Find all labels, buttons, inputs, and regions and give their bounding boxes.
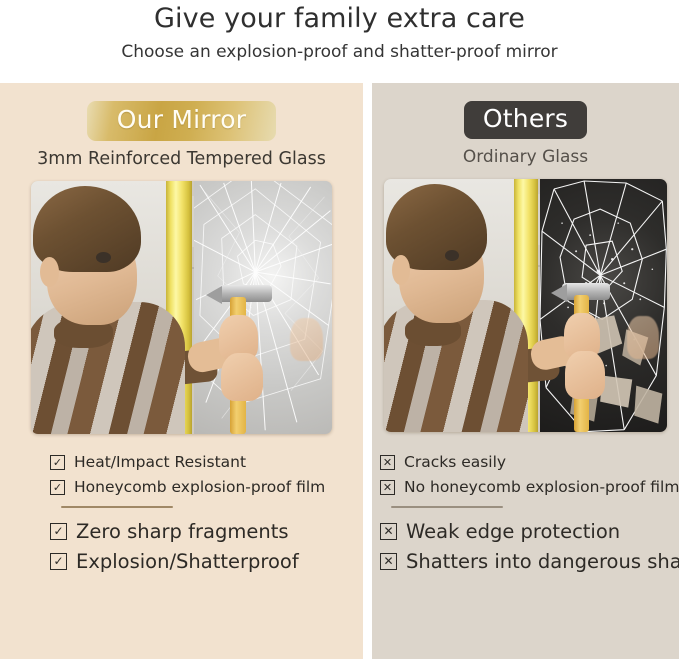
photo-others xyxy=(384,179,667,432)
feature-item: ✓ Honeycomb explosion-proof film xyxy=(50,478,363,496)
caption-others: Ordinary Glass xyxy=(372,146,679,168)
feature-item: ✓ Explosion/Shatterproof xyxy=(50,550,363,573)
badge-others-wrap: Others xyxy=(372,83,679,139)
panel-divider xyxy=(363,83,372,659)
feature-divider xyxy=(391,506,503,508)
feature-item: ✕ No honeycomb explosion-proof film xyxy=(380,478,679,496)
features-our-mirror: ✓ Heat/Impact Resistant ✓ Honeycomb expl… xyxy=(0,453,363,580)
boy-figure xyxy=(31,181,206,434)
feature-label: No honeycomb explosion-proof film xyxy=(395,478,679,496)
feature-label: Weak edge protection xyxy=(397,520,620,543)
header: Give your family extra care Choose an ex… xyxy=(0,0,679,83)
mirror-glass-intact xyxy=(194,181,332,434)
feature-label: Honeycomb explosion-proof film xyxy=(65,478,325,496)
feature-item: ✓ Heat/Impact Resistant xyxy=(50,453,363,471)
badge-our-mirror: Our Mirror xyxy=(87,101,276,141)
boy-ear xyxy=(40,257,59,287)
mirror-glass-shattered xyxy=(540,179,667,432)
feature-label: Cracks easily xyxy=(395,453,506,471)
cross-icon: ✕ xyxy=(380,523,397,540)
cross-icon: ✕ xyxy=(380,480,395,495)
feature-label: Explosion/Shatterproof xyxy=(67,550,299,573)
photo-scene-shattered xyxy=(384,179,667,432)
caption-our-mirror: 3mm Reinforced Tempered Glass xyxy=(0,148,363,170)
comparison-infographic: Give your family extra care Choose an ex… xyxy=(0,0,679,659)
hammer-claw xyxy=(551,284,567,302)
check-icon: ✓ xyxy=(50,455,65,470)
cross-icon: ✕ xyxy=(380,553,397,570)
hand-lower xyxy=(565,351,605,399)
feature-item: ✕ Weak edge protection xyxy=(380,520,679,543)
hand-lower xyxy=(221,353,263,401)
badge-others: Others xyxy=(464,101,587,139)
feature-item: ✕ Cracks easily xyxy=(380,453,679,471)
check-icon: ✓ xyxy=(50,480,65,495)
photo-our-mirror xyxy=(31,181,332,434)
page-title: Give your family extra care xyxy=(0,0,679,36)
features-others: ✕ Cracks easily ✕ No honeycomb explosion… xyxy=(372,453,679,580)
shatter-pattern-icon xyxy=(540,179,667,432)
cross-icon: ✕ xyxy=(380,455,395,470)
feature-label: Heat/Impact Resistant xyxy=(65,453,246,471)
hand-reflection xyxy=(290,318,323,361)
feature-label: Zero sharp fragments xyxy=(67,520,289,543)
crack-web-icon xyxy=(194,181,332,431)
hand-reflection xyxy=(627,316,658,359)
feature-divider xyxy=(61,506,173,508)
feature-label: Shatters into dangerous shards xyxy=(397,550,679,573)
check-icon: ✓ xyxy=(50,553,67,570)
badge-our-mirror-wrap: Our Mirror xyxy=(0,83,363,141)
check-icon: ✓ xyxy=(50,523,67,540)
hammer-claw xyxy=(206,286,222,304)
feature-item: ✓ Zero sharp fragments xyxy=(50,520,363,543)
photo-scene-intact xyxy=(31,181,332,434)
panel-others: Others Ordinary Glass xyxy=(372,83,679,659)
page-subtitle: Choose an explosion-proof and shatter-pr… xyxy=(0,36,679,63)
panel-our-mirror: Our Mirror 3mm Reinforced Tempered Glass xyxy=(0,83,363,659)
boy-figure xyxy=(384,179,548,432)
feature-item: ✕ Shatters into dangerous shards xyxy=(380,550,679,573)
comparison-panels: Our Mirror 3mm Reinforced Tempered Glass xyxy=(0,83,679,659)
